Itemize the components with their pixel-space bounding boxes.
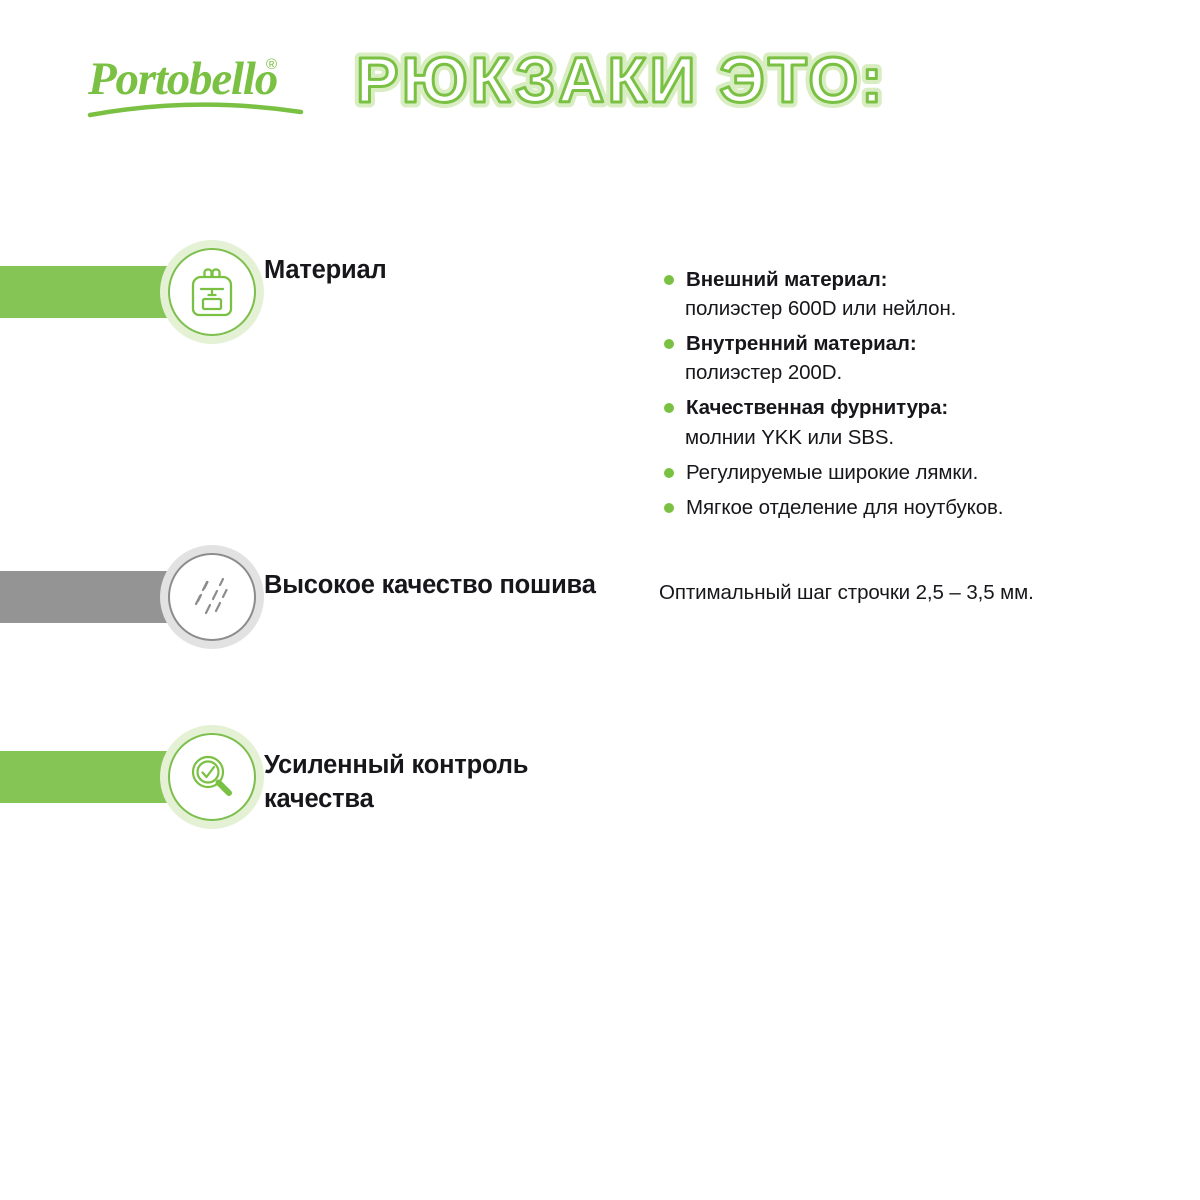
stitching-note: Оптимальный шаг строчки 2,5 – 3,5 мм. (659, 578, 1034, 607)
section-title-stitching: Высокое качество пошива (264, 569, 604, 603)
bullet-dot-icon (664, 275, 674, 285)
list-item-lead: Мягкое отделение для ноутбуков. (686, 493, 1160, 522)
registered-mark: ® (266, 56, 277, 73)
page-title: РЮКЗАКИ ЭТО: РЮКЗАКИ ЭТО: (352, 43, 952, 123)
section-badge-stitching (160, 545, 264, 649)
poster: Portobello ® РЮКЗАКИ ЭТО: РЮКЗАКИ ЭТО: (0, 0, 1200, 1200)
bullet-dot-icon (664, 503, 674, 513)
list-item-cont: полиэстер 600D или нейлон. (685, 294, 1160, 323)
magnifier-check-icon (186, 751, 238, 803)
list-item-lead: Внутренний материал: (686, 329, 1160, 358)
list-item-cont: молнии YKK или SBS. (685, 423, 1160, 452)
list-item-lead: Внешний материал: (686, 265, 1160, 294)
list-item: Регулируемые широкие лямки. (660, 458, 1160, 487)
list-item: Мягкое отделение для ноутбуков. (660, 493, 1160, 522)
section-badge-quality-control (160, 725, 264, 829)
logo-wordmark: Portobello (87, 53, 277, 105)
list-item: Качественная фурнитура: молнии YKK или S… (660, 393, 1160, 451)
logo-swoosh (90, 105, 301, 115)
bullet-dot-icon (664, 468, 674, 478)
section-title-quality-control: Усиленный контроль качества (264, 749, 604, 817)
page-title-text: РЮКЗАКИ ЭТО: (356, 44, 885, 116)
list-item-lead: Регулируемые широкие лямки. (686, 458, 1160, 487)
backpack-icon (187, 265, 237, 319)
list-item: Внутренний материал: полиэстер 200D. (660, 329, 1160, 387)
portobello-logo: Portobello ® (88, 48, 303, 120)
bullet-dot-icon (664, 339, 674, 349)
section-title-material: Материал (264, 254, 604, 288)
list-item: Внешний материал: полиэстер 600D или ней… (660, 265, 1160, 323)
bullet-dot-icon (664, 403, 674, 413)
list-item-lead: Качественная фурнитура: (686, 393, 1160, 422)
list-item-cont: полиэстер 200D. (685, 358, 1160, 387)
stitching-icon (186, 571, 238, 623)
section-badge-material (160, 240, 264, 344)
material-bullet-list: Внешний материал: полиэстер 600D или ней… (660, 265, 1160, 528)
